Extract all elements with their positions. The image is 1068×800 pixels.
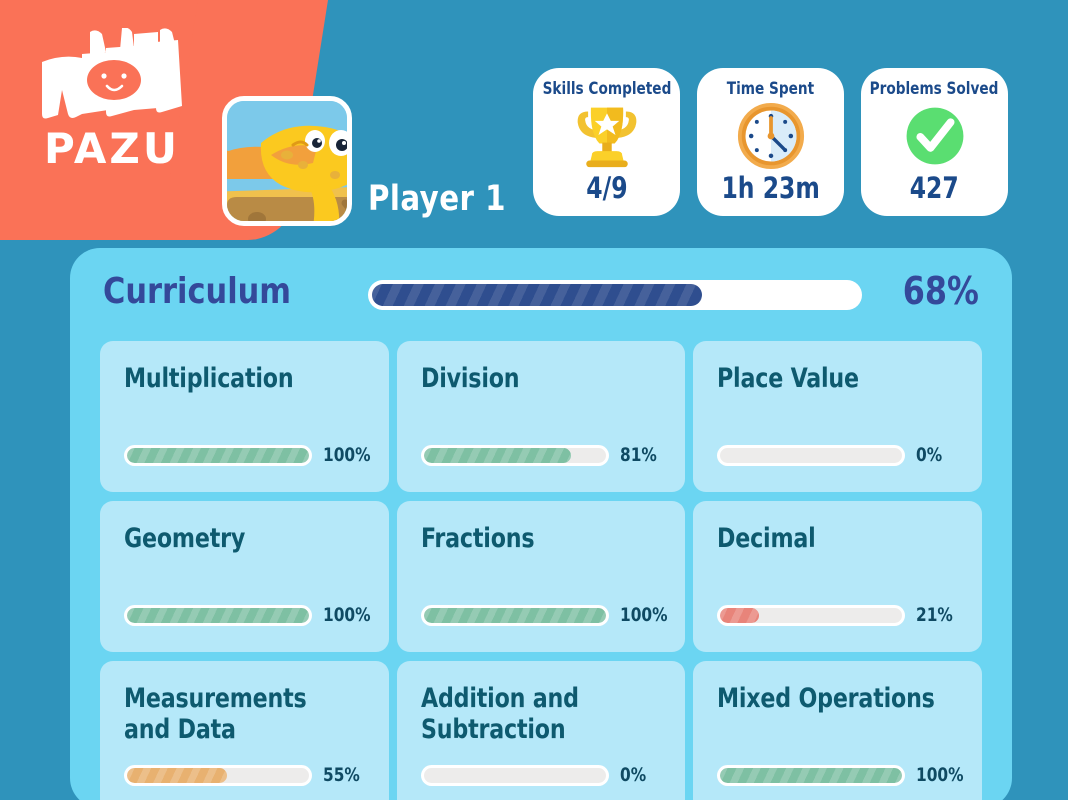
subject-card[interactable]: Multiplication 100%	[100, 341, 389, 492]
subject-percent: 100%	[916, 766, 964, 785]
curriculum-percent: 68%	[903, 272, 979, 310]
subject-progress-bar	[421, 445, 609, 466]
subject-progress-row: 100%	[421, 605, 673, 626]
subject-percent: 100%	[323, 606, 371, 625]
subject-title: Multiplication	[124, 363, 348, 394]
subject-title: Geometry	[124, 523, 348, 554]
subject-percent: 0%	[916, 446, 942, 465]
stat-value: 1h 23m	[721, 174, 819, 203]
player-name: Player 1	[368, 182, 506, 217]
subject-progress-bar	[421, 605, 609, 626]
curriculum-progress-bar	[368, 280, 862, 310]
avatar-image-clip	[227, 101, 347, 221]
page-title: Curriculum	[103, 274, 291, 310]
curriculum-progress-fill	[372, 284, 702, 306]
subject-card[interactable]: Addition and Subtraction 0%	[397, 661, 686, 800]
subject-progress-row: 100%	[124, 605, 376, 626]
pazu-creature-logo-icon	[38, 28, 190, 120]
clock-icon	[737, 100, 805, 172]
subject-progress-bar	[421, 765, 609, 786]
subject-progress-fill	[127, 768, 227, 783]
subject-progress-fill	[127, 448, 309, 463]
subject-card[interactable]: Geometry 100%	[100, 501, 389, 652]
subject-progress-fill	[720, 768, 902, 783]
subject-card[interactable]: Decimal 21%	[693, 501, 982, 652]
subject-title: Mixed Operations	[717, 683, 941, 714]
curriculum-header: Curriculum 68%	[70, 248, 1012, 340]
stat-label: Time Spent	[727, 79, 814, 98]
subject-title: Measurements and Data	[124, 683, 348, 746]
subject-progress-row: 100%	[717, 765, 969, 786]
subject-title: Decimal	[717, 523, 941, 554]
subject-progress-bar	[124, 765, 312, 786]
subject-title: Addition and Subtraction	[421, 683, 645, 746]
subject-progress-fill	[720, 608, 758, 623]
subject-grid: Multiplication 100% Division 81%	[100, 341, 982, 800]
app-root: PAZU	[0, 0, 1068, 800]
subject-percent: 0%	[620, 766, 646, 785]
subject-progress-bar	[124, 445, 312, 466]
subject-progress-row: 0%	[421, 765, 649, 786]
subject-percent: 21%	[916, 606, 953, 625]
curriculum-panel: Curriculum 68% Multiplication 100% Divis…	[70, 248, 1012, 800]
pterodactyl-avatar-icon	[227, 101, 347, 221]
subject-progress-row: 0%	[717, 445, 945, 466]
subject-card[interactable]: Measurements and Data 55%	[100, 661, 389, 800]
pazu-wordmark: PAZU	[42, 128, 182, 170]
stat-card-problems-solved[interactable]: Problems Solved 427	[861, 68, 1008, 216]
stat-value: 4/9	[586, 174, 627, 203]
subject-card[interactable]: Fractions 100%	[397, 501, 686, 652]
subject-progress-fill	[127, 608, 309, 623]
subject-progress-row: 100%	[124, 445, 376, 466]
subject-progress-bar	[717, 765, 905, 786]
stat-value: 427	[910, 174, 959, 203]
green-checkmark-icon	[902, 100, 968, 172]
stat-card-time-spent[interactable]: Time Spent	[697, 68, 844, 216]
stats-row: Skills Completed 4/9 Time Spent	[533, 68, 1008, 216]
subject-percent: 100%	[620, 606, 668, 625]
subject-title: Place Value	[717, 363, 941, 394]
subject-progress-row: 21%	[717, 605, 957, 626]
subject-percent: 55%	[323, 766, 360, 785]
avatar-frame	[222, 96, 352, 226]
subject-percent: 81%	[620, 446, 657, 465]
trophy-icon	[573, 100, 641, 172]
subject-card[interactable]: Place Value 0%	[693, 341, 982, 492]
subject-progress-row: 55%	[124, 765, 364, 786]
subject-card[interactable]: Division 81%	[397, 341, 686, 492]
subject-title: Division	[421, 363, 645, 394]
stat-label: Skills Completed	[542, 79, 671, 98]
subject-progress-bar	[124, 605, 312, 626]
subject-progress-bar	[717, 445, 905, 466]
stat-label: Problems Solved	[870, 79, 999, 98]
avatar[interactable]	[222, 96, 352, 226]
subject-progress-bar	[717, 605, 905, 626]
stat-card-skills-completed[interactable]: Skills Completed 4/9	[533, 68, 680, 216]
subject-progress-fill	[424, 448, 571, 463]
subject-title: Fractions	[421, 523, 645, 554]
subject-progress-row: 81%	[421, 445, 661, 466]
subject-progress-fill	[424, 608, 606, 623]
subject-card[interactable]: Mixed Operations 100%	[693, 661, 982, 800]
pazu-logo[interactable]: PAZU	[34, 28, 194, 208]
subject-percent: 100%	[323, 446, 371, 465]
